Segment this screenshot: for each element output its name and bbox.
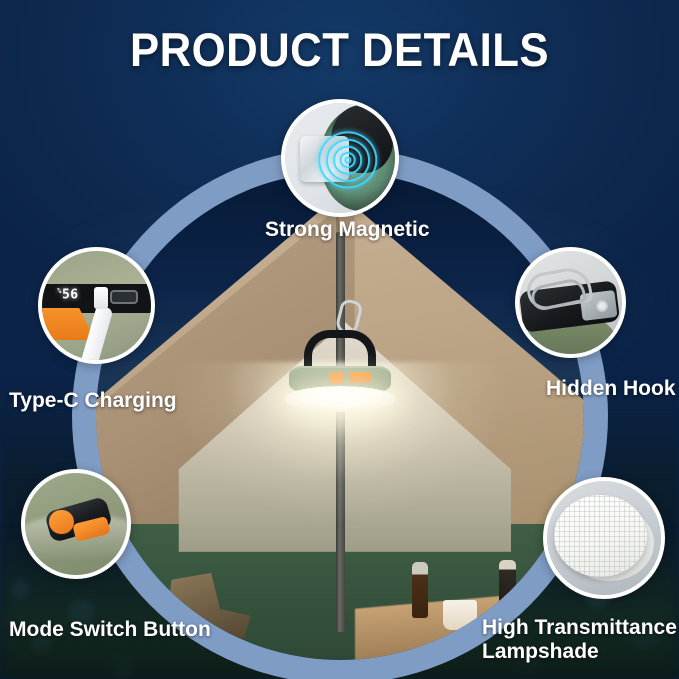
magnetic-image bbox=[285, 103, 395, 213]
usb-port bbox=[110, 290, 138, 304]
bottle bbox=[412, 562, 428, 618]
feature-bubble-hidden-hook bbox=[515, 247, 626, 358]
feature-bubble-strong-magnetic bbox=[281, 99, 399, 217]
usb-c-plug bbox=[94, 287, 108, 309]
lantern-mode-button bbox=[349, 372, 371, 383]
battery-value: 56 bbox=[62, 287, 79, 302]
lantern-power-button bbox=[329, 372, 344, 384]
camping-lantern bbox=[285, 330, 395, 408]
bowl bbox=[443, 600, 477, 630]
feature-label-type-c-charging: Type-C Charging bbox=[9, 389, 177, 413]
product-details-infographic: PRODUCT DETAILS bbox=[0, 0, 679, 679]
battery-display: %56 bbox=[57, 287, 78, 302]
mode-switch-image bbox=[25, 473, 127, 575]
magnetic-ripple-icon bbox=[318, 132, 377, 189]
lampshade-disc-front bbox=[554, 495, 647, 577]
screw-icon bbox=[596, 300, 608, 312]
feature-bubble-mode-switch-button bbox=[21, 469, 131, 579]
feature-label-hidden-hook: Hidden Hook bbox=[546, 377, 676, 401]
feature-bubble-type-c-charging: %56 bbox=[38, 247, 155, 364]
feature-label-strong-magnetic: Strong Magnetic bbox=[265, 218, 430, 242]
switch-cap bbox=[49, 510, 73, 534]
type-c-image: %56 bbox=[42, 251, 151, 360]
lampshade-image bbox=[547, 481, 661, 595]
feature-label-mode-switch-button: Mode Switch Button bbox=[9, 618, 211, 642]
page-title: PRODUCT DETAILS bbox=[24, 22, 655, 77]
feature-label-high-transmittance-lampshade: High Transmittance Lampshade bbox=[482, 616, 677, 663]
hero-photo bbox=[96, 172, 584, 660]
hidden-hook-image bbox=[519, 251, 622, 354]
hero-circle bbox=[96, 172, 584, 660]
feature-bubble-high-transmittance-lampshade bbox=[543, 477, 665, 599]
lantern-lampshade bbox=[285, 386, 395, 412]
